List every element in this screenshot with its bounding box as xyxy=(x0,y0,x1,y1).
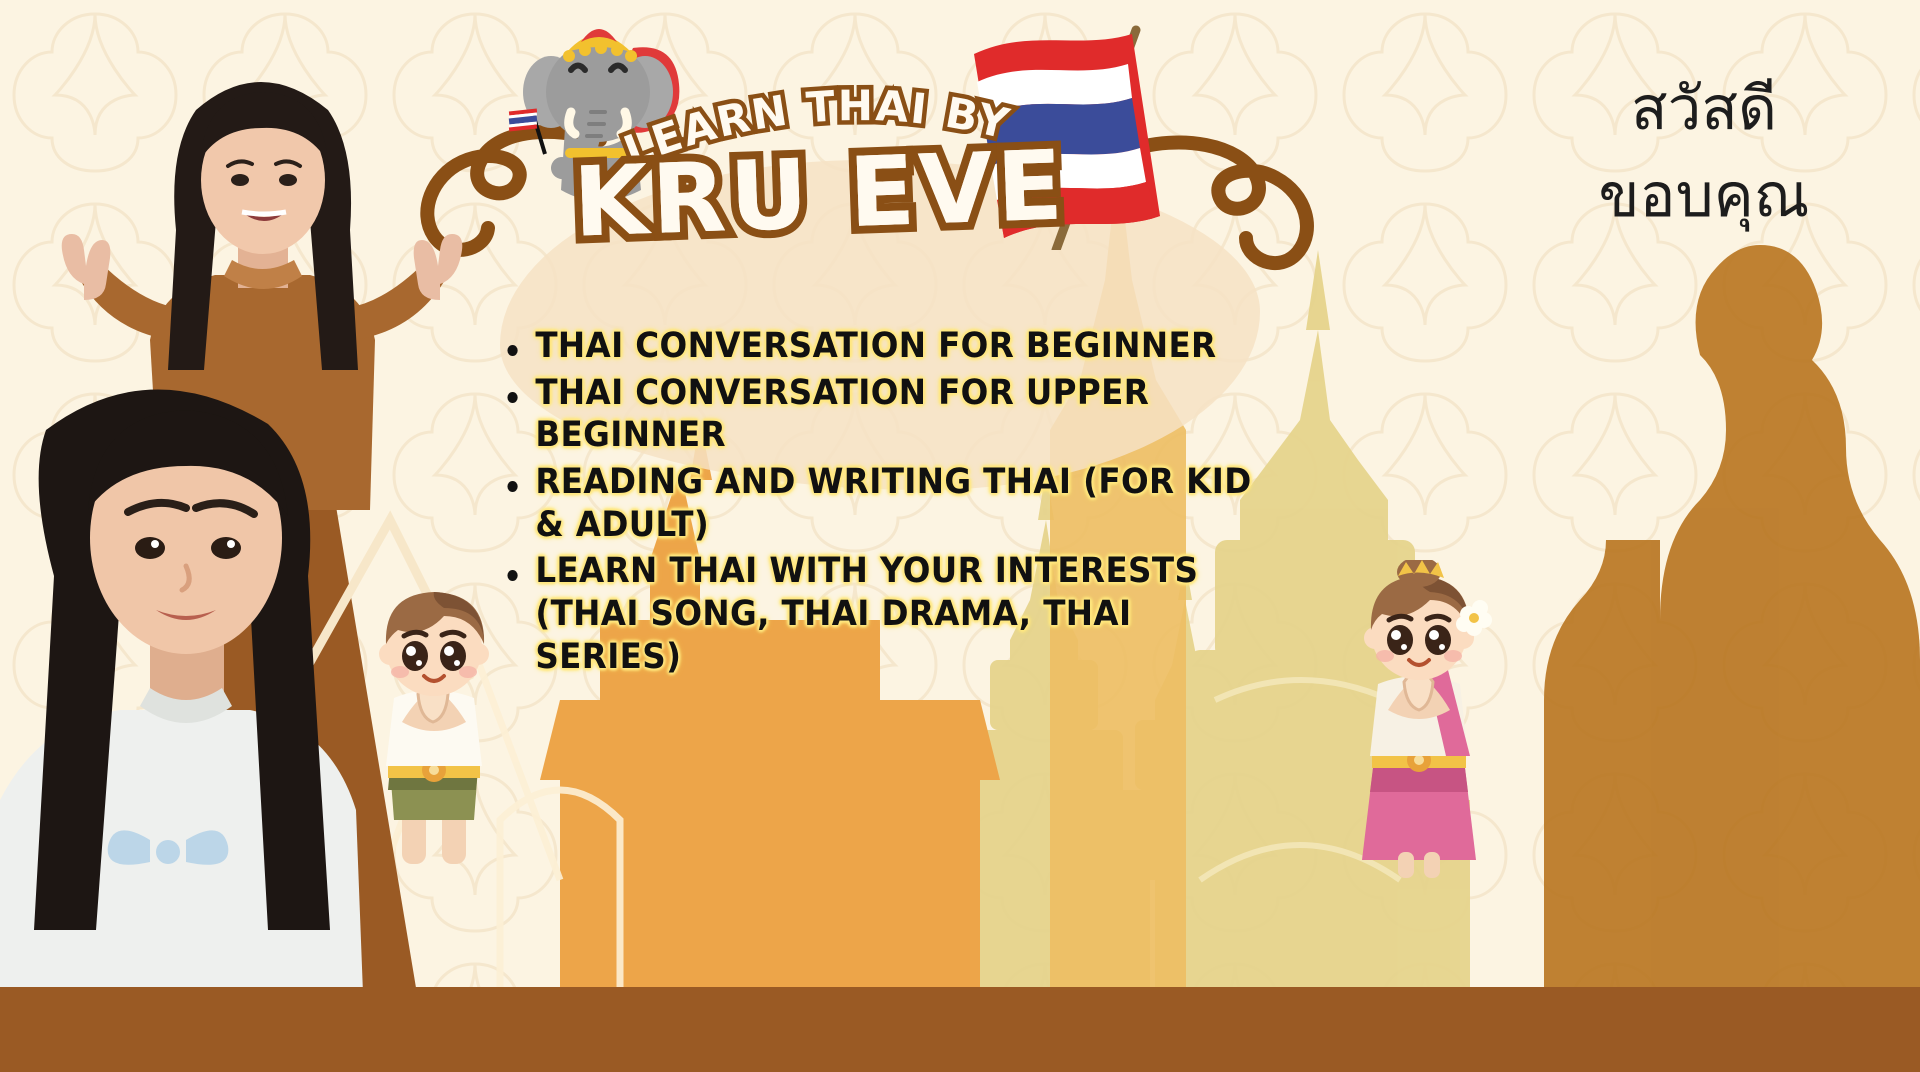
elephant-icon xyxy=(505,8,705,208)
list-item: READING AND WRITING THAI (FOR KID & ADUL… xyxy=(500,461,1263,546)
list-item: THAI CONVERSATION FOR UPPER BEGINNER xyxy=(500,372,1263,457)
thai-girl-wai-icon xyxy=(1318,560,1518,880)
list-item: THAI CONVERSATION FOR BEGINNER xyxy=(500,325,1263,368)
greeting-thanks: ขอบคุณ xyxy=(1544,153,1864,240)
learn-thai-banner: LEARN THAI BY KRU EVE KRU EVE THAI CONVE… xyxy=(0,0,1920,1072)
list-item: LEARN THAI WITH YOUR INTERESTS (THAI SON… xyxy=(500,550,1263,678)
thai-flag-icon xyxy=(960,20,1170,250)
greeting-hello: สวัสดี xyxy=(1544,66,1864,153)
thai-greeting: สวัสดี ขอบคุณ xyxy=(1544,66,1864,240)
course-list: THAI CONVERSATION FOR BEGINNER THAI CONV… xyxy=(500,325,1320,683)
thai-boy-wai-icon xyxy=(332,578,532,878)
ground-bar xyxy=(0,987,1920,1072)
